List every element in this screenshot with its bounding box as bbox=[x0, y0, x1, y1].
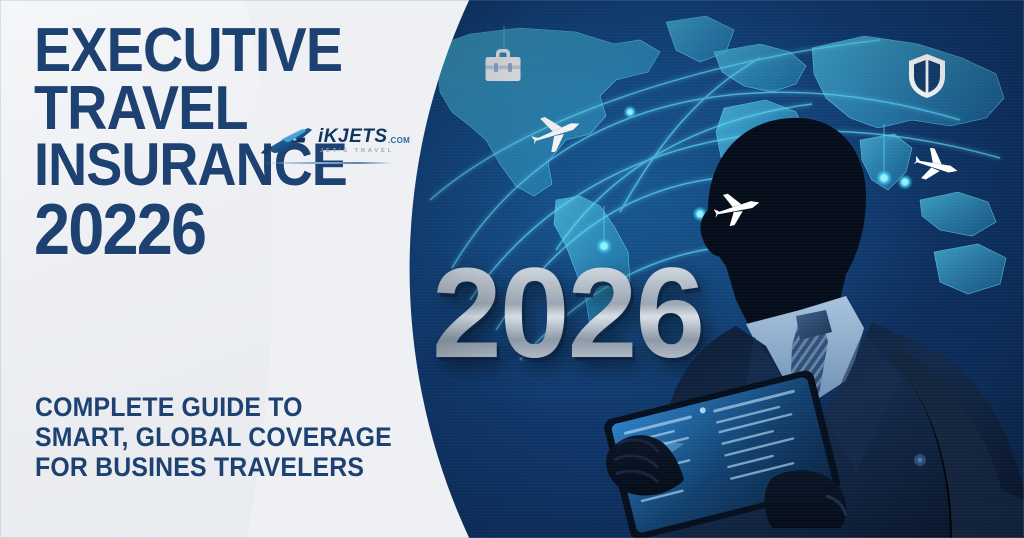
logo-brand: iKJETS bbox=[318, 126, 388, 148]
logo-brand-text: iKJETS bbox=[318, 126, 388, 147]
headline-line-1: EXECUTIVE bbox=[34, 22, 385, 80]
jet-plane-icon bbox=[258, 126, 316, 156]
headline-year: 20226 bbox=[34, 197, 385, 264]
ikjets-logo[interactable]: iKJETS .COM JET'S TRAVEL bbox=[258, 118, 398, 170]
promo-banner: EXECUTIVE TRAVEL INSURANCE 20226 bbox=[0, 0, 1024, 538]
logo-underline bbox=[264, 162, 392, 164]
subtitle-line-2: SMART, GLOBAL COVERAGE bbox=[35, 422, 398, 452]
logo-domain-suffix: .COM bbox=[388, 136, 410, 145]
logo-tagline: JET'S TRAVEL bbox=[320, 148, 394, 154]
subtitle-line-1: COMPLETE GUIDE TO bbox=[35, 392, 398, 422]
subtitle-line-3: FOR BUSINES TRAVELERS bbox=[35, 452, 398, 482]
subtitle-block: COMPLETE GUIDE TO SMART, GLOBAL COVERAGE… bbox=[35, 392, 398, 483]
